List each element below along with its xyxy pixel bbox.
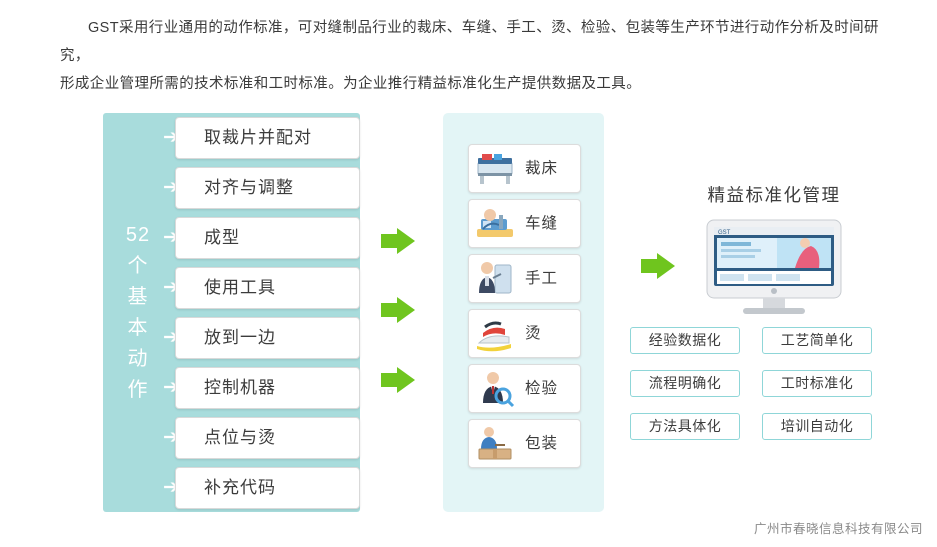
process-card-packaging[interactable]: 包装 [468, 419, 581, 468]
basic-motions-label: 52个基本动作 [118, 220, 158, 406]
motion-item-label: 点位与烫 [204, 418, 276, 458]
process-card-label: 裁床 [525, 145, 558, 192]
process-card-sewing[interactable]: 车缝 [468, 199, 581, 248]
ironing-icon [473, 313, 517, 354]
process-card-handwork[interactable]: 手工 [468, 254, 581, 303]
flow-arrow-icon-2 [381, 297, 415, 323]
company-footer: 广州市春晓信息科技有限公司 [754, 518, 923, 537]
tag-2[interactable]: 工艺简单化 [762, 327, 872, 354]
svg-text:GST: GST [718, 230, 731, 236]
motion-item-label: 控制机器 [204, 368, 276, 408]
motion-item-label: 使用工具 [204, 268, 276, 308]
intro-line-1: GST采用行业通用的动作标准，可对缝制品行业的裁床、车缝、手工、烫、检验、包装等… [60, 14, 880, 70]
motion-item-5[interactable]: 放到一边 [175, 317, 360, 359]
process-card-label: 包装 [525, 420, 558, 467]
process-card-ironing[interactable]: 烫 [468, 309, 581, 358]
tag-5[interactable]: 方法具体化 [630, 413, 740, 440]
intro-line-2: 形成企业管理所需的技术标准和工时标准。为企业推行精益标准化生产提供数据及工具。 [60, 70, 880, 98]
process-card-inspection[interactable]: 检验 [468, 364, 581, 413]
process-card-label: 检验 [525, 365, 558, 412]
handwork-icon [473, 258, 517, 299]
flow-arrow-icon-4 [641, 253, 675, 279]
motion-item-7[interactable]: 点位与烫 [175, 417, 360, 459]
intro-paragraph: GST采用行业通用的动作标准，可对缝制品行业的裁床、车缝、手工、烫、检验、包装等… [60, 14, 880, 98]
motion-item-4[interactable]: 使用工具 [175, 267, 360, 309]
sewing-machine-icon [473, 203, 517, 244]
motion-item-3[interactable]: 成型 [175, 217, 360, 259]
motion-item-8[interactable]: 补充代码 [175, 467, 360, 509]
motion-item-1[interactable]: 取裁片并配对 [175, 117, 360, 159]
packaging-icon [473, 423, 517, 464]
process-card-label: 手工 [525, 255, 558, 302]
monitor-illustration: GST [703, 218, 845, 318]
motion-item-label: 对齐与调整 [204, 168, 294, 208]
motion-item-label: 补充代码 [204, 468, 276, 508]
process-card-label: 烫 [525, 310, 542, 357]
tag-1[interactable]: 经验数据化 [630, 327, 740, 354]
motion-item-label: 取裁片并配对 [204, 118, 312, 158]
cutting-table-icon [473, 148, 517, 189]
motion-item-6[interactable]: 控制机器 [175, 367, 360, 409]
motion-item-2[interactable]: 对齐与调整 [175, 167, 360, 209]
process-card-label: 车缝 [525, 200, 558, 247]
inspection-icon [473, 368, 517, 409]
flow-arrow-icon-1 [381, 228, 415, 254]
tag-6[interactable]: 培训自动化 [762, 413, 872, 440]
process-card-cutting[interactable]: 裁床 [468, 144, 581, 193]
motion-item-label: 放到一边 [204, 318, 276, 358]
lean-management-title: 精益标准化管理 [659, 182, 889, 207]
tag-3[interactable]: 流程明确化 [630, 370, 740, 397]
flow-arrow-icon-3 [381, 367, 415, 393]
tag-4[interactable]: 工时标准化 [762, 370, 872, 397]
motion-item-label: 成型 [204, 218, 240, 258]
